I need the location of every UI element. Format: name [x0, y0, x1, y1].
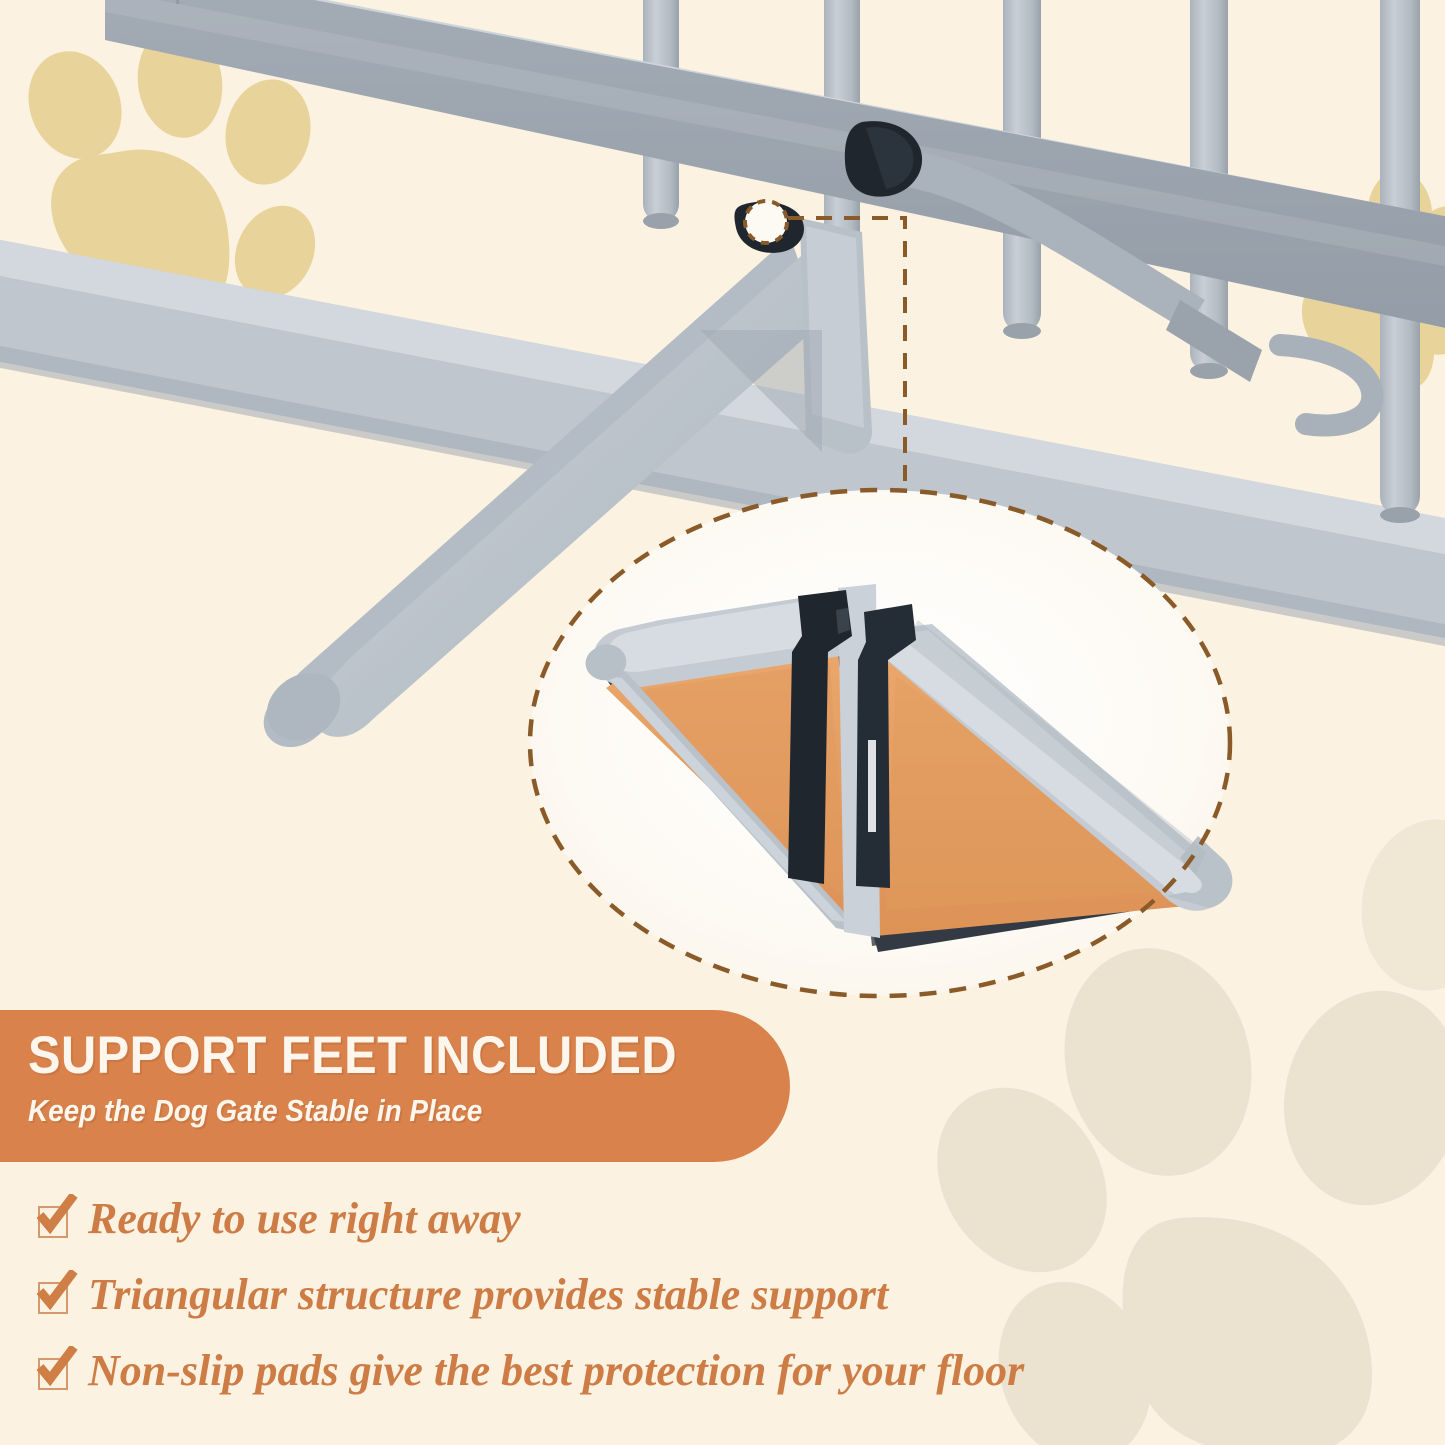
checkbox-checked-icon [34, 1276, 74, 1316]
checkbox-checked-icon [34, 1352, 74, 1392]
feature-label: Triangular structure provides stable sup… [88, 1264, 888, 1326]
support-foot-detail-callout [530, 490, 1232, 996]
banner-subtitle: Keep the Dog Gate Stable in Place [28, 1090, 714, 1132]
feature-list: Ready to use right away Triangular struc… [34, 1188, 1414, 1416]
feature-item: Ready to use right away [34, 1188, 1414, 1264]
feature-item: Non-slip pads give the best protection f… [34, 1340, 1414, 1416]
rail-end-loop [1280, 345, 1372, 426]
headline-banner: SUPPORT FEET INCLUDED Keep the Dog Gate … [0, 1010, 790, 1162]
banner-title: SUPPORT FEET INCLUDED [28, 1026, 729, 1086]
clip-highlight-ring [745, 201, 787, 243]
feature-label: Non-slip pads give the best protection f… [88, 1340, 1024, 1402]
infographic-canvas: SUPPORT FEET INCLUDED Keep the Dog Gate … [0, 0, 1445, 1445]
feature-item: Triangular structure provides stable sup… [34, 1264, 1414, 1340]
checkbox-checked-icon [34, 1200, 74, 1240]
feature-label: Ready to use right away [88, 1188, 521, 1250]
